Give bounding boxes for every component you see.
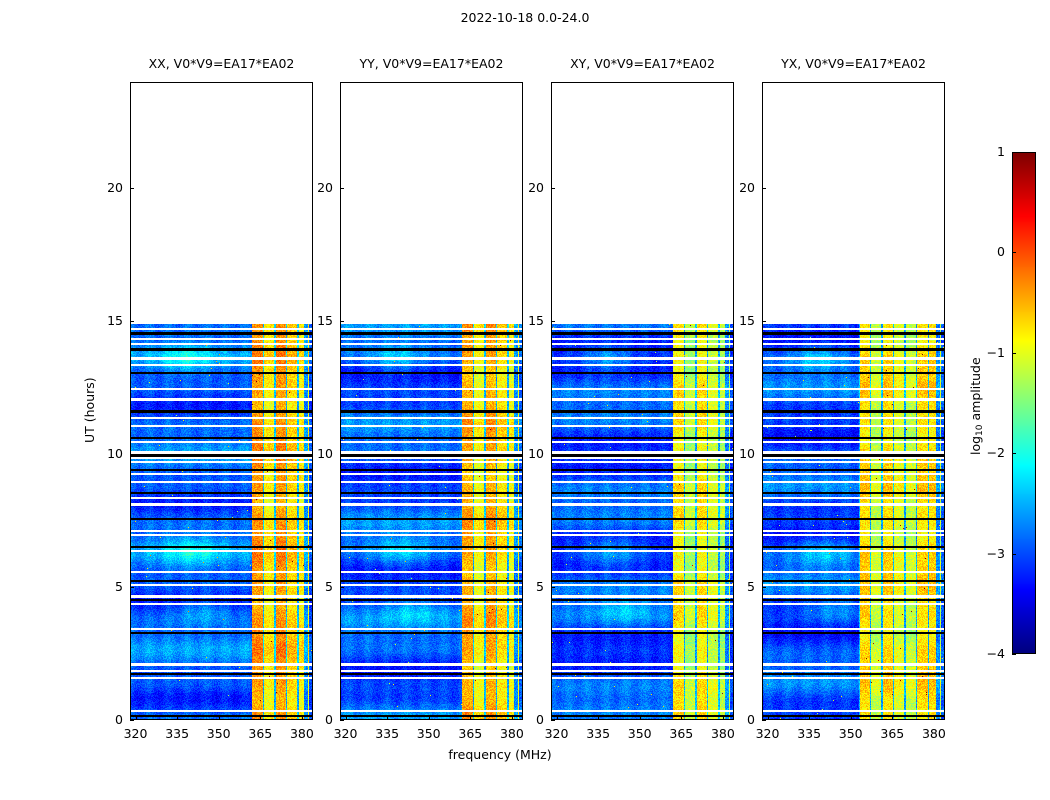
x-tick-label: 335: [365, 726, 409, 741]
panel-frame: [762, 82, 945, 720]
colorbar-tick-mark: [1012, 453, 1016, 454]
x-tick-label: 335: [576, 726, 620, 741]
x-tick-label: 350: [829, 726, 873, 741]
x-tick-mark: [598, 716, 599, 720]
y-tick-label: 10: [89, 446, 123, 461]
x-tick-mark: [429, 716, 430, 720]
y-tick-mark: [130, 321, 134, 322]
x-tick-label: 365: [659, 726, 703, 741]
figure-root: 2022-10-18 0.0-24.0 XX, V0*V9=EA17*EA023…: [0, 0, 1050, 800]
y-tick-mark: [340, 321, 344, 322]
y-axis-label: UT (hours): [82, 377, 97, 443]
y-tick-label: 20: [299, 180, 333, 195]
spectrogram-panel-xx[interactable]: [130, 82, 313, 720]
y-tick-mark: [130, 188, 134, 189]
x-tick-label: 365: [870, 726, 914, 741]
x-tick-mark: [177, 716, 178, 720]
y-tick-mark: [762, 321, 766, 322]
y-tick-label: 0: [721, 712, 755, 727]
panel-frame: [340, 82, 523, 720]
colorbar-label-suffix: amplitude: [968, 357, 983, 424]
x-tick-mark: [387, 716, 388, 720]
x-tick-label: 380: [490, 726, 534, 741]
colorbar-tick-mark: [1012, 554, 1016, 555]
y-tick-label: 20: [89, 180, 123, 195]
y-tick-mark: [340, 454, 344, 455]
spectrogram-panel-yx[interactable]: [762, 82, 945, 720]
y-tick-label: 15: [510, 313, 544, 328]
y-tick-mark: [762, 454, 766, 455]
x-tick-mark: [219, 716, 220, 720]
x-tick-label: 380: [912, 726, 956, 741]
x-tick-mark: [809, 716, 810, 720]
x-tick-label: 365: [448, 726, 492, 741]
spectrogram-panel-yy[interactable]: [340, 82, 523, 720]
x-tick-mark: [768, 716, 769, 720]
y-tick-mark: [762, 720, 766, 721]
y-tick-mark: [551, 587, 555, 588]
y-tick-label: 0: [510, 712, 544, 727]
y-tick-label: 0: [299, 712, 333, 727]
x-tick-label: 320: [114, 726, 158, 741]
colorbar-tick-mark: [1012, 353, 1016, 354]
y-tick-label: 10: [299, 446, 333, 461]
y-tick-label: 15: [721, 313, 755, 328]
y-tick-mark: [551, 720, 555, 721]
y-tick-label: 10: [510, 446, 544, 461]
x-tick-label: 335: [787, 726, 831, 741]
y-tick-label: 5: [510, 579, 544, 594]
x-tick-label: 335: [155, 726, 199, 741]
y-tick-label: 5: [299, 579, 333, 594]
x-tick-mark: [260, 716, 261, 720]
y-tick-mark: [130, 587, 134, 588]
y-tick-mark: [551, 454, 555, 455]
panel-title-yx: YX, V0*V9=EA17*EA02: [744, 56, 964, 71]
x-tick-mark: [136, 716, 137, 720]
colorbar-label-subscript: 10: [975, 424, 985, 435]
colorbar-label: log10 amplitude: [968, 357, 985, 455]
y-tick-mark: [130, 720, 134, 721]
colorbar-tick-label: 0: [975, 244, 1005, 259]
y-tick-mark: [762, 587, 766, 588]
x-axis-label: frequency (MHz): [400, 747, 600, 762]
colorbar-label-prefix: log: [968, 436, 983, 455]
y-tick-mark: [340, 587, 344, 588]
y-tick-label: 10: [721, 446, 755, 461]
x-tick-mark: [681, 716, 682, 720]
figure-suptitle: 2022-10-18 0.0-24.0: [0, 10, 1050, 25]
colorbar-tick-label: −4: [975, 646, 1005, 661]
x-tick-mark: [851, 716, 852, 720]
x-tick-label: 320: [746, 726, 790, 741]
colorbar-tick-label: 1: [975, 144, 1005, 159]
y-tick-mark: [762, 188, 766, 189]
x-tick-mark: [557, 716, 558, 720]
x-tick-label: 350: [618, 726, 662, 741]
x-tick-label: 350: [197, 726, 241, 741]
panel-title-xy: XY, V0*V9=EA17*EA02: [533, 56, 753, 71]
x-tick-mark: [892, 716, 893, 720]
x-tick-mark: [640, 716, 641, 720]
colorbar-tick-mark: [1012, 152, 1016, 153]
panel-title-xx: XX, V0*V9=EA17*EA02: [112, 56, 332, 71]
y-tick-label: 15: [89, 313, 123, 328]
colorbar: [1012, 152, 1036, 654]
colorbar-tick-label: −3: [975, 546, 1005, 561]
x-tick-label: 380: [701, 726, 745, 741]
spectrogram-panel-xy[interactable]: [551, 82, 734, 720]
y-tick-label: 5: [89, 579, 123, 594]
y-tick-label: 0: [89, 712, 123, 727]
x-tick-label: 380: [280, 726, 324, 741]
y-tick-mark: [340, 188, 344, 189]
panel-title-yy: YY, V0*V9=EA17*EA02: [322, 56, 542, 71]
x-tick-label: 350: [407, 726, 451, 741]
x-tick-mark: [346, 716, 347, 720]
x-tick-label: 320: [535, 726, 579, 741]
x-tick-label: 365: [238, 726, 282, 741]
y-tick-label: 20: [510, 180, 544, 195]
y-tick-label: 15: [299, 313, 333, 328]
panel-frame: [551, 82, 734, 720]
y-tick-label: 5: [721, 579, 755, 594]
y-tick-mark: [340, 720, 344, 721]
x-tick-mark: [470, 716, 471, 720]
x-tick-mark: [934, 716, 935, 720]
colorbar-tick-mark: [1012, 252, 1016, 253]
y-tick-mark: [130, 454, 134, 455]
colorbar-tick-mark: [1012, 654, 1016, 655]
colorbar-frame: [1012, 152, 1036, 654]
panel-frame: [130, 82, 313, 720]
y-tick-mark: [551, 188, 555, 189]
y-tick-label: 20: [721, 180, 755, 195]
x-tick-label: 320: [324, 726, 368, 741]
y-tick-mark: [551, 321, 555, 322]
